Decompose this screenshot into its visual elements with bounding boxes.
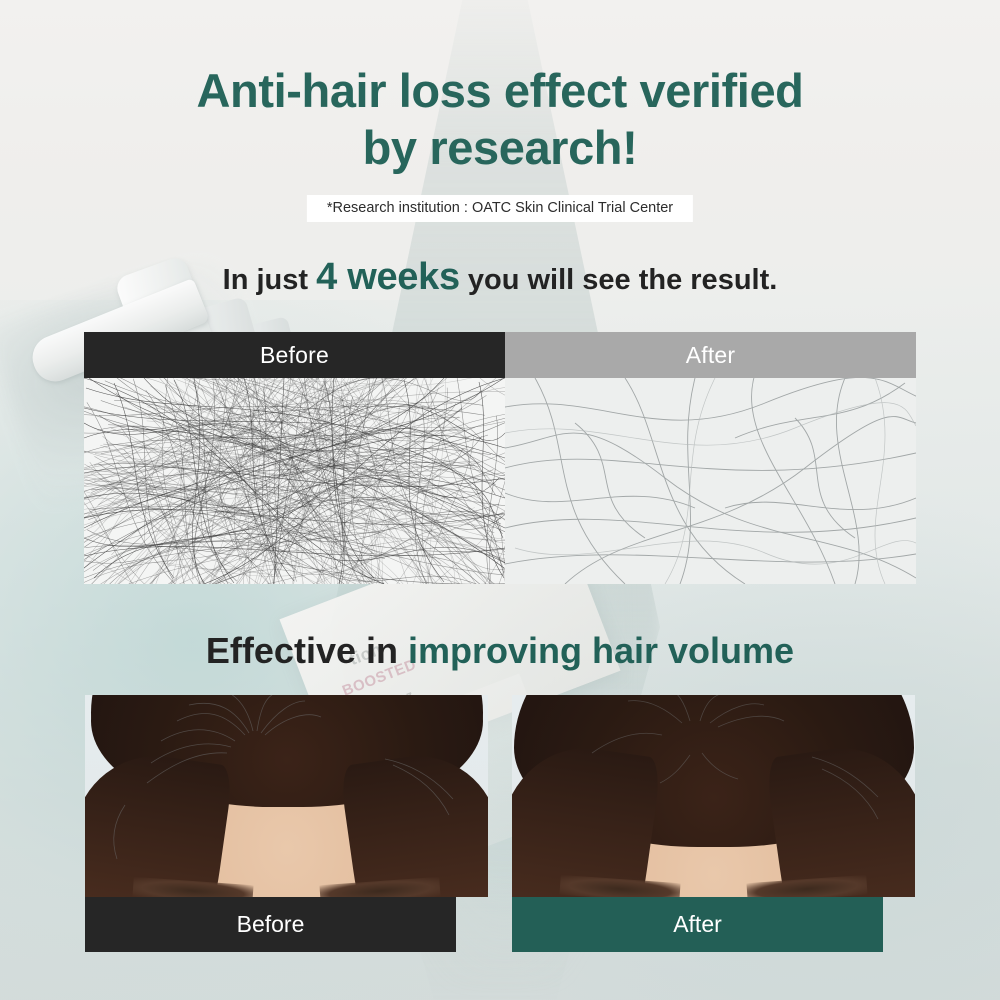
subline-prefix: In just	[223, 264, 308, 296]
headline-line-1: Anti-hair loss effect verified	[197, 64, 804, 117]
subline-highlight: 4 weeks	[316, 256, 460, 298]
flyaway-hair-wisps	[512, 695, 915, 897]
heading2-prefix: Effective in	[206, 630, 398, 671]
page-title: Anti-hair loss effect verified by resear…	[0, 62, 1000, 177]
scalp-before-label: Before	[84, 332, 505, 378]
face-after-photo	[512, 695, 915, 897]
scalp-after-photo	[505, 378, 916, 584]
content-layer: Anti-hair loss effect verified by resear…	[0, 0, 1000, 1000]
face-before-label: Before	[85, 897, 456, 952]
scalp-comparison: Before After	[84, 332, 916, 584]
face-after-label: After	[512, 897, 883, 952]
subline-suffix: you will see the result.	[468, 264, 777, 296]
section-heading-volume: Effective in improving hair volume	[0, 630, 1000, 672]
heading2-highlight: improving hair volume	[408, 630, 794, 671]
face-comparison: Before	[85, 695, 915, 952]
dense-hair-strands-graphic	[84, 378, 505, 584]
face-after-card: After	[512, 695, 915, 952]
research-source-note: *Research institution : OATC Skin Clinic…	[307, 195, 693, 222]
result-timeframe-line: In just 4 weeks you will see the result.	[0, 256, 1000, 299]
scalp-after-label: After	[505, 332, 916, 378]
sparse-hair-strands-graphic	[505, 378, 916, 584]
headline-line-2: by research!	[0, 119, 1000, 176]
scalp-before-photo	[84, 378, 505, 584]
face-before-card: Before	[85, 695, 488, 952]
face-before-photo	[85, 695, 488, 897]
flyaway-hair-wisps	[85, 695, 488, 897]
